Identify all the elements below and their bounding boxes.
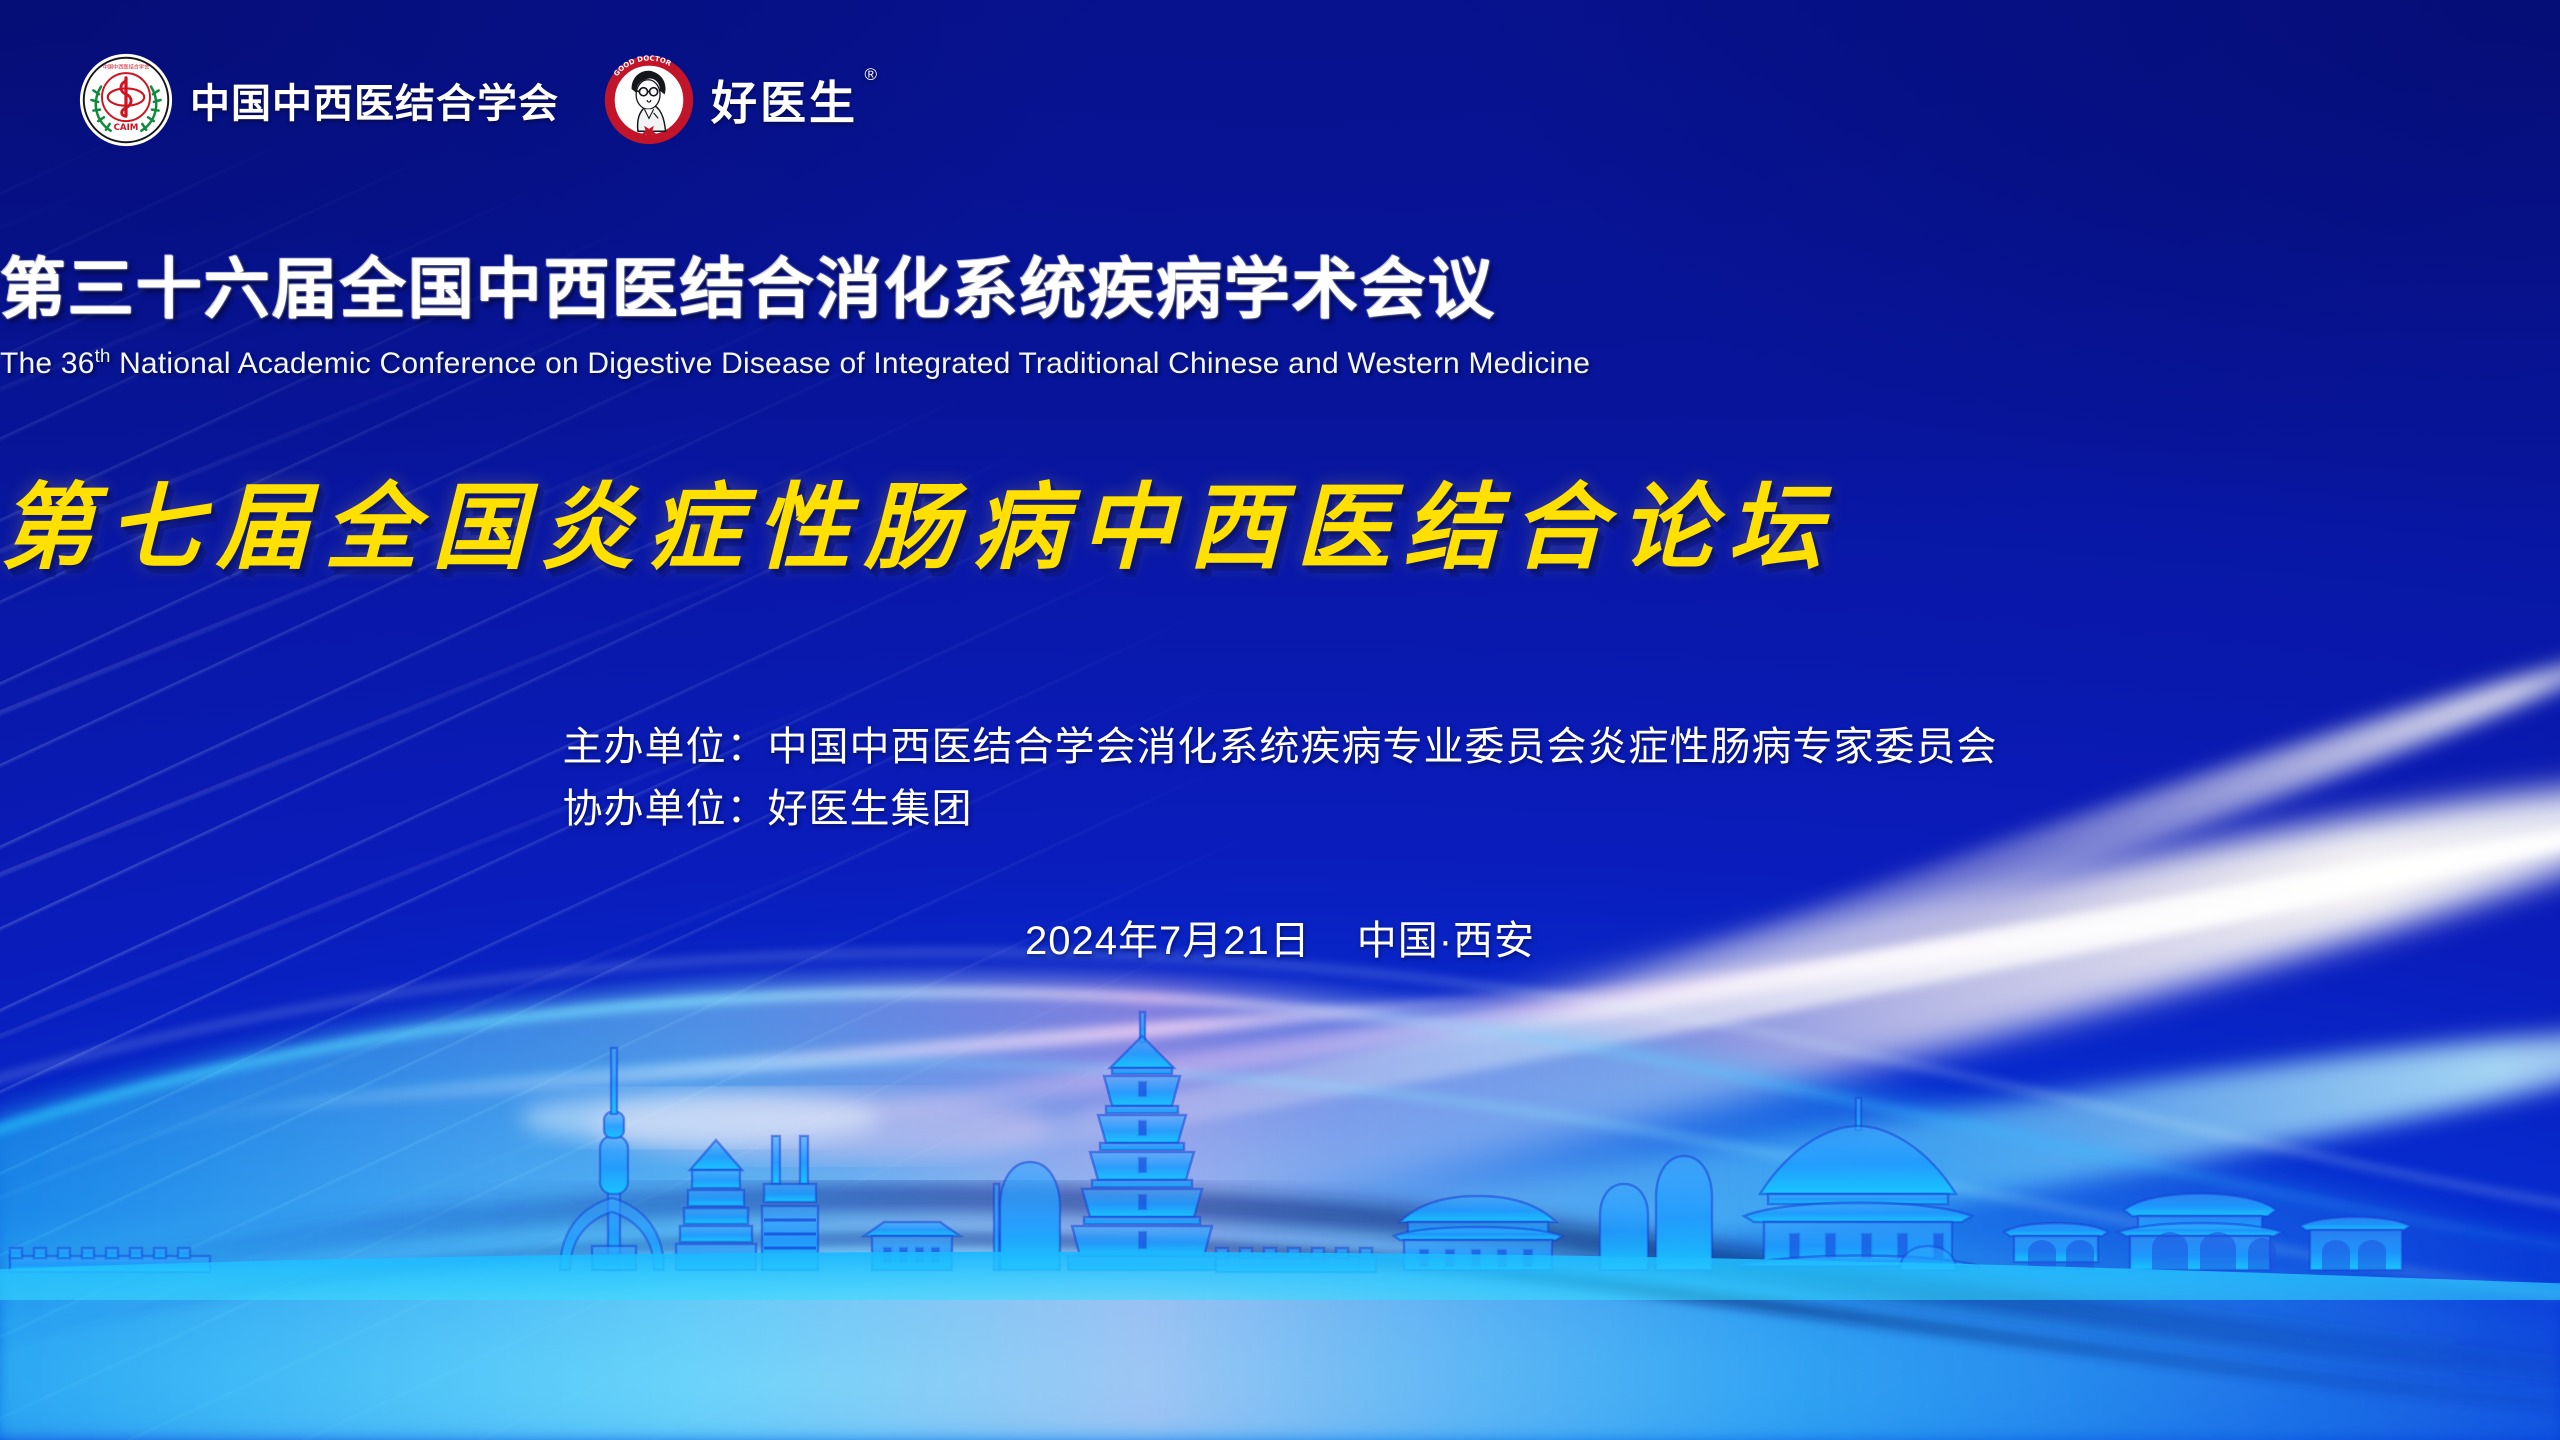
- caim-emblem-text: CAIM: [114, 123, 139, 133]
- landmark-big-wild-goose-pagoda: [1068, 1012, 1216, 1270]
- logo-row: CAIM 中国中西医结合学会 中国中西医结合学会: [78, 52, 858, 148]
- organizer-role-co-host: 协办单位：: [563, 787, 768, 831]
- conference-title-chinese: 第三十六届全国中西医结合消化系统疾病学术会议: [0, 236, 2560, 332]
- xian-skyline-silhouette: [0, 940, 2560, 1300]
- title-english-rest: National Academic Conference on Digestiv…: [111, 347, 1591, 380]
- landmark-bell-tower: [1736, 1098, 1980, 1266]
- logo-good-doctor[interactable]: GOOD DOCTOR 好医生 ®: [603, 54, 858, 146]
- event-date: 2024年7月21日: [1025, 919, 1311, 963]
- conference-banner: CAIM 中国中西医结合学会 中国中西医结合学会: [0, 0, 2560, 1440]
- caim-emblem-ring-text: 中国中西医结合学会: [103, 62, 150, 70]
- logo-good-doctor-label-text: 好医生: [711, 77, 858, 129]
- title-english-ordinal-suffix: th: [95, 345, 111, 366]
- forum-title-calligraphy: 第七届全国炎症性肠病中西医结合论坛: [0, 452, 2560, 588]
- title-english-prefix: The 36: [0, 347, 95, 380]
- organizer-line-co-host: 协办单位：好医生集团: [563, 778, 1998, 840]
- logo-good-doctor-label: 好医生 ®: [711, 67, 858, 133]
- organizer-name-co-host: 好医生集团: [768, 787, 973, 831]
- landmark-gate-complex-right: [2300, 1217, 2410, 1270]
- organizer-line-host: 主办单位：中国中西医结合学会消化系统疾病专业委员会炎症性肠病专家委员会: [563, 716, 1998, 778]
- landmark-terracotta-warriors-pair: [1600, 1156, 1712, 1270]
- organizer-block: 主办单位：中国中西医结合学会消化系统疾病专业委员会炎症性肠病专家委员会 协办单位…: [0, 716, 2560, 840]
- organizer-name-host: 中国中西医结合学会消化系统疾病专业委员会炎症性肠病专家委员会: [768, 725, 1998, 769]
- event-location: 中国·西安: [1357, 919, 1535, 963]
- landmark-small-wild-goose-pagoda: [676, 1140, 756, 1270]
- landmark-modern-twin-tower: [762, 1136, 818, 1270]
- landmark-xian-tv-tower: [592, 1048, 636, 1270]
- logo-caim-label: 中国中西医结合学会: [190, 71, 559, 129]
- good-doctor-emblem-icon: GOOD DOCTOR: [603, 54, 695, 146]
- logo-caim[interactable]: CAIM 中国中西医结合学会 中国中西医结合学会: [78, 52, 559, 148]
- event-date-location: 2024年7月21日中国·西安: [0, 908, 2560, 966]
- organizer-role-host: 主办单位：: [563, 725, 768, 769]
- conference-title-english: The 36th National Academic Conference on…: [0, 345, 2560, 381]
- registered-trademark-icon: ®: [864, 65, 880, 85]
- caim-emblem-icon: CAIM 中国中西医结合学会: [78, 52, 174, 148]
